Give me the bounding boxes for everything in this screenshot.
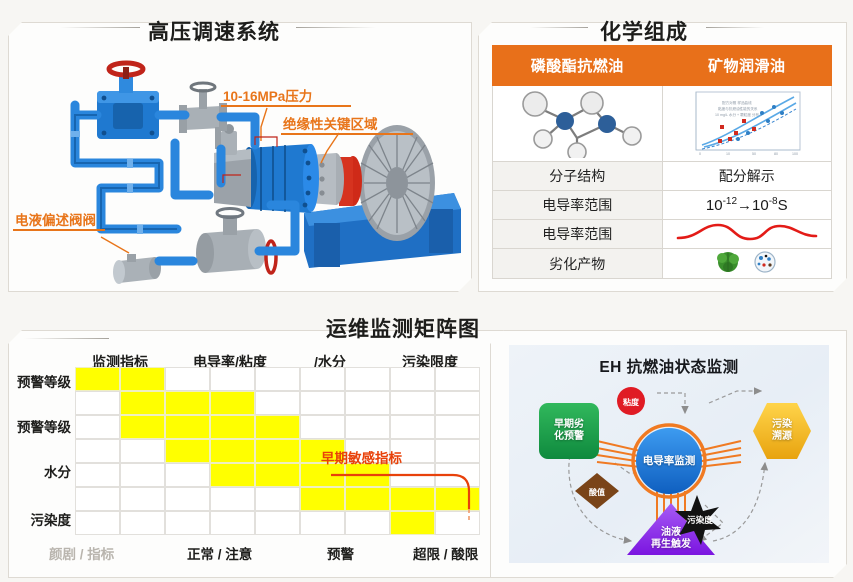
matrix-callout-label: 早期敏感指标: [321, 447, 402, 467]
matrix-row-header-0: 预警等级: [9, 371, 71, 391]
matrix-cell: [255, 487, 300, 511]
molecule-cell: [493, 86, 663, 162]
matrix-cell: [75, 487, 120, 511]
matrix-cell: [120, 487, 165, 511]
scatter-chart-cell: 配方对照 样品曲线 黏度与抗燃油性能的关系 10 mg/L 水分 + 颗粒度 分…: [662, 86, 832, 162]
matrix-cell: [390, 367, 435, 391]
svg-text:50: 50: [752, 152, 756, 156]
annotation-insulation-underline: [281, 133, 413, 135]
matrix-cell: [75, 439, 120, 463]
matrix-footer-label-2: 预警: [327, 543, 354, 563]
chem-header-mineral: 矿物润滑油: [662, 46, 832, 86]
eh-diagram-canvas: EH 抗燃油状态监测: [509, 345, 829, 563]
machine-section-title: 高压调速系统: [148, 16, 280, 46]
matrix-row-header-2: 水分: [9, 461, 71, 481]
matrix-cell-active: [210, 391, 255, 415]
matrix-section-title: 运维监测矩阵图: [326, 313, 480, 343]
matrix-cell: [345, 367, 390, 391]
matrix-cell: [300, 391, 345, 415]
chem-label-conductivity-range-2: 电导率范围: [493, 220, 663, 249]
chem-row-media: 配方对照 样品曲线 黏度与抗燃油性能的关系 10 mg/L 水分 + 颗粒度 分…: [493, 86, 832, 162]
matrix-cell: [255, 367, 300, 391]
annotation-servo-valve-underline: [13, 229, 105, 231]
matrix-cell: [120, 511, 165, 535]
node-center-shape: [636, 428, 702, 494]
node-contamination-trace-shape: [753, 403, 811, 459]
matrix-cell: [210, 511, 255, 535]
matrix-cell: [435, 439, 480, 463]
matrix-cell: [390, 391, 435, 415]
svg-text:10 mg/L 水分 + 颗粒度 分布...: 10 mg/L 水分 + 颗粒度 分布...: [715, 112, 762, 117]
annotation-pressure-underline: [221, 105, 351, 107]
svg-text:100: 100: [792, 152, 798, 156]
chem-label-degradation-products: 劣化产物: [493, 249, 663, 279]
chem-table-header-row: 磷酸酯抗燃油 矿物润滑油: [493, 46, 832, 86]
matrix-cell: [210, 367, 255, 391]
svg-text:80: 80: [774, 152, 778, 156]
sludge-and-particles-icons: [707, 250, 787, 274]
matrix-row-header-1: 预警等级: [9, 416, 71, 436]
matrix-cell-active: [210, 439, 255, 463]
matrix-cell: [165, 487, 210, 511]
chem-value-composition: 配分解示: [662, 162, 832, 191]
matrix-cell: [255, 391, 300, 415]
machine-title-rule-right: [296, 27, 376, 28]
annotation-insulation: 绝缘性关键区域: [283, 113, 378, 133]
chem-label-conductivity-range-1: 电导率范围: [493, 191, 663, 220]
matrix-cell: [75, 511, 120, 535]
matrix-cell: [75, 391, 120, 415]
chem-title-rule-right: [706, 27, 764, 28]
badge-acid-value-shape: [575, 473, 619, 509]
matrix-cell-active: [255, 463, 300, 487]
chem-row-structure: 分子结构 配分解示: [493, 162, 832, 191]
svg-text:10: 10: [726, 152, 730, 156]
svg-text:黏度与抗燃油性能的关系: 黏度与抗燃油性能的关系: [718, 106, 758, 111]
matrix-cell: [165, 511, 210, 535]
matrix-callout-leader: [329, 465, 489, 521]
chem-row-conductivity-range-2: 电导率范围: [493, 220, 832, 249]
sludge-icon: [717, 252, 739, 272]
matrix-footer-label-3: 超限 / 酸限: [413, 543, 478, 563]
chem-value-wave: [662, 220, 832, 249]
matrix-title-rule-left: [24, 338, 109, 339]
conductivity-expression: 10-12→10-8S: [706, 197, 788, 214]
high-pressure-speed-system-illustration: [9, 23, 471, 291]
badge-viscosity-shape: [617, 387, 645, 415]
matrix-cell: [120, 439, 165, 463]
eh-diagram-svg: [509, 345, 829, 563]
particles-icon: [755, 252, 775, 272]
svg-text:配方对照 样品曲线: 配方对照 样品曲线: [722, 100, 752, 105]
chem-header-phosphate: 磷酸酯抗燃油: [493, 46, 663, 86]
matrix-cell: [390, 415, 435, 439]
matrix-cell: [435, 415, 480, 439]
chemical-composition-table: 磷酸酯抗燃油 矿物润滑油: [492, 45, 832, 279]
chem-row-conductivity-range-1: 电导率范围 10-12→10-8S: [493, 191, 832, 220]
matrix-cell: [165, 367, 210, 391]
matrix-cell-active: [255, 439, 300, 463]
node-early-warning-shape: [539, 403, 599, 459]
red-wave-icon: [672, 222, 822, 244]
chem-value-conductivity-expression: 10-12→10-8S: [662, 191, 832, 220]
svg-text:0: 0: [699, 152, 701, 156]
matrix-cell: [300, 367, 345, 391]
matrix-cell: [120, 463, 165, 487]
matrix-cell: [435, 367, 480, 391]
chem-value-degradation-icons: [662, 249, 832, 279]
eh-monitoring-diagram-panel: EH 抗燃油状态监测: [490, 330, 847, 578]
matrix-cell-active: [165, 391, 210, 415]
annotation-servo-valve: 电液偏述阀阀: [15, 209, 96, 229]
matrix-cell-active: [120, 391, 165, 415]
matrix-cell-active: [255, 415, 300, 439]
matrix-cell: [165, 463, 210, 487]
chem-label-molecular-structure: 分子结构: [493, 162, 663, 191]
chem-row-degradation: 劣化产物: [493, 249, 832, 279]
matrix-cell: [255, 511, 300, 535]
chem-section-title: 化学组成: [600, 16, 688, 46]
matrix-cell-active: [75, 367, 120, 391]
machine-title-rule-left: [60, 27, 140, 28]
matrix-footer-label-1: 正常 / 注意: [187, 543, 252, 563]
matrix-cell-active: [120, 415, 165, 439]
matrix-footer-label-0: 颜剧 / 指标: [49, 543, 114, 563]
matrix-cell: [345, 391, 390, 415]
matrix-cell-active: [210, 415, 255, 439]
monitoring-matrix-panel: 监测指标 电导率/粘度 /水分 污染限度 预警等级 预警等级 水分 污染度 早期…: [8, 330, 510, 578]
matrix-cell: [345, 415, 390, 439]
matrix-cell: [210, 487, 255, 511]
machine-illustration-panel: 10-16MPa压力 绝缘性关键区域 电液偏述阀阀: [8, 22, 472, 292]
scatter-chart-thumbnail-icon: 配方对照 样品曲线 黏度与抗燃油性能的关系 10 mg/L 水分 + 颗粒度 分…: [682, 87, 812, 157]
matrix-cell-active: [165, 415, 210, 439]
matrix-cell: [75, 415, 120, 439]
annotation-pressure: 10-16MPa压力: [223, 85, 312, 105]
chemical-composition-panel: 磷酸酯抗燃油 矿物润滑油: [478, 22, 847, 292]
matrix-cell: [300, 415, 345, 439]
matrix-row-header-3: 污染度: [9, 509, 71, 529]
matrix-cell-active: [120, 367, 165, 391]
matrix-cell: [75, 463, 120, 487]
chem-title-rule-left: [530, 27, 588, 28]
molecule-diagram-icon: [495, 86, 660, 158]
matrix-cell: [435, 391, 480, 415]
matrix-cell-active: [210, 463, 255, 487]
matrix-cell-active: [165, 439, 210, 463]
